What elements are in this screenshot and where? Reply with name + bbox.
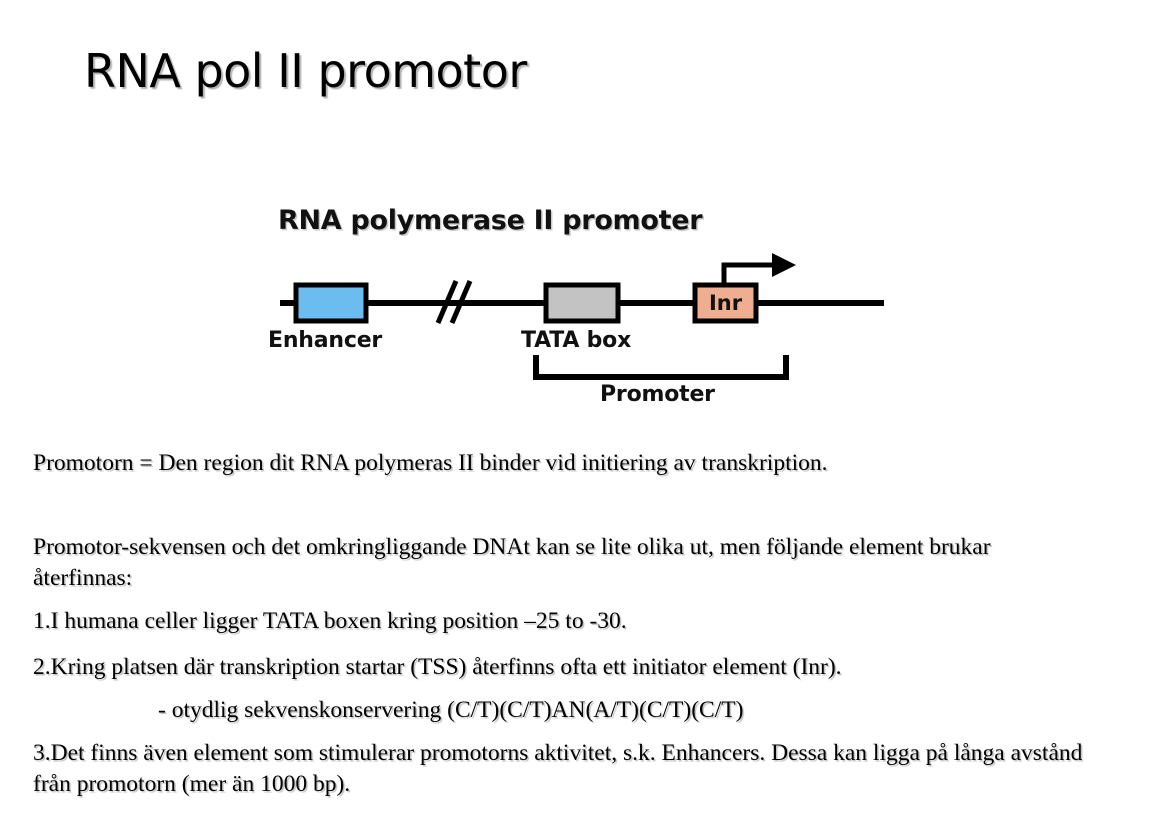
diagram-svg: [0, 195, 1150, 425]
definition-paragraph: Promotorn = Den region dit RNA polymeras…: [33, 448, 1123, 479]
enhancer-label: Enhancer: [268, 328, 382, 353]
tata-box: [546, 285, 618, 321]
list-item-2-sub: - otydlig sekvenskonservering (C/T)(C/T)…: [158, 695, 1118, 726]
promoter-diagram: RNA polymerase II promoter Inr Enhancer …: [0, 195, 1150, 425]
list-item-2: 2.Kring platsen där transkription starta…: [33, 652, 1123, 683]
inr-box: [695, 285, 756, 321]
page-title: RNA pol II promotor: [84, 44, 527, 98]
transcription-start-arrowhead: [772, 253, 796, 277]
promoter-label: Promoter: [600, 382, 715, 407]
list-item-3: 3.Det finns även element som stimulerar …: [33, 738, 1123, 800]
list-item-1: 1.I humana celler ligger TATA boxen krin…: [33, 606, 1123, 637]
enhancer-box: [296, 285, 366, 321]
promoter-bracket: [536, 358, 786, 377]
intro-paragraph: Promotor-sekvensen och det omkringliggan…: [33, 532, 1093, 594]
tata-box-label: TATA box: [521, 328, 631, 353]
